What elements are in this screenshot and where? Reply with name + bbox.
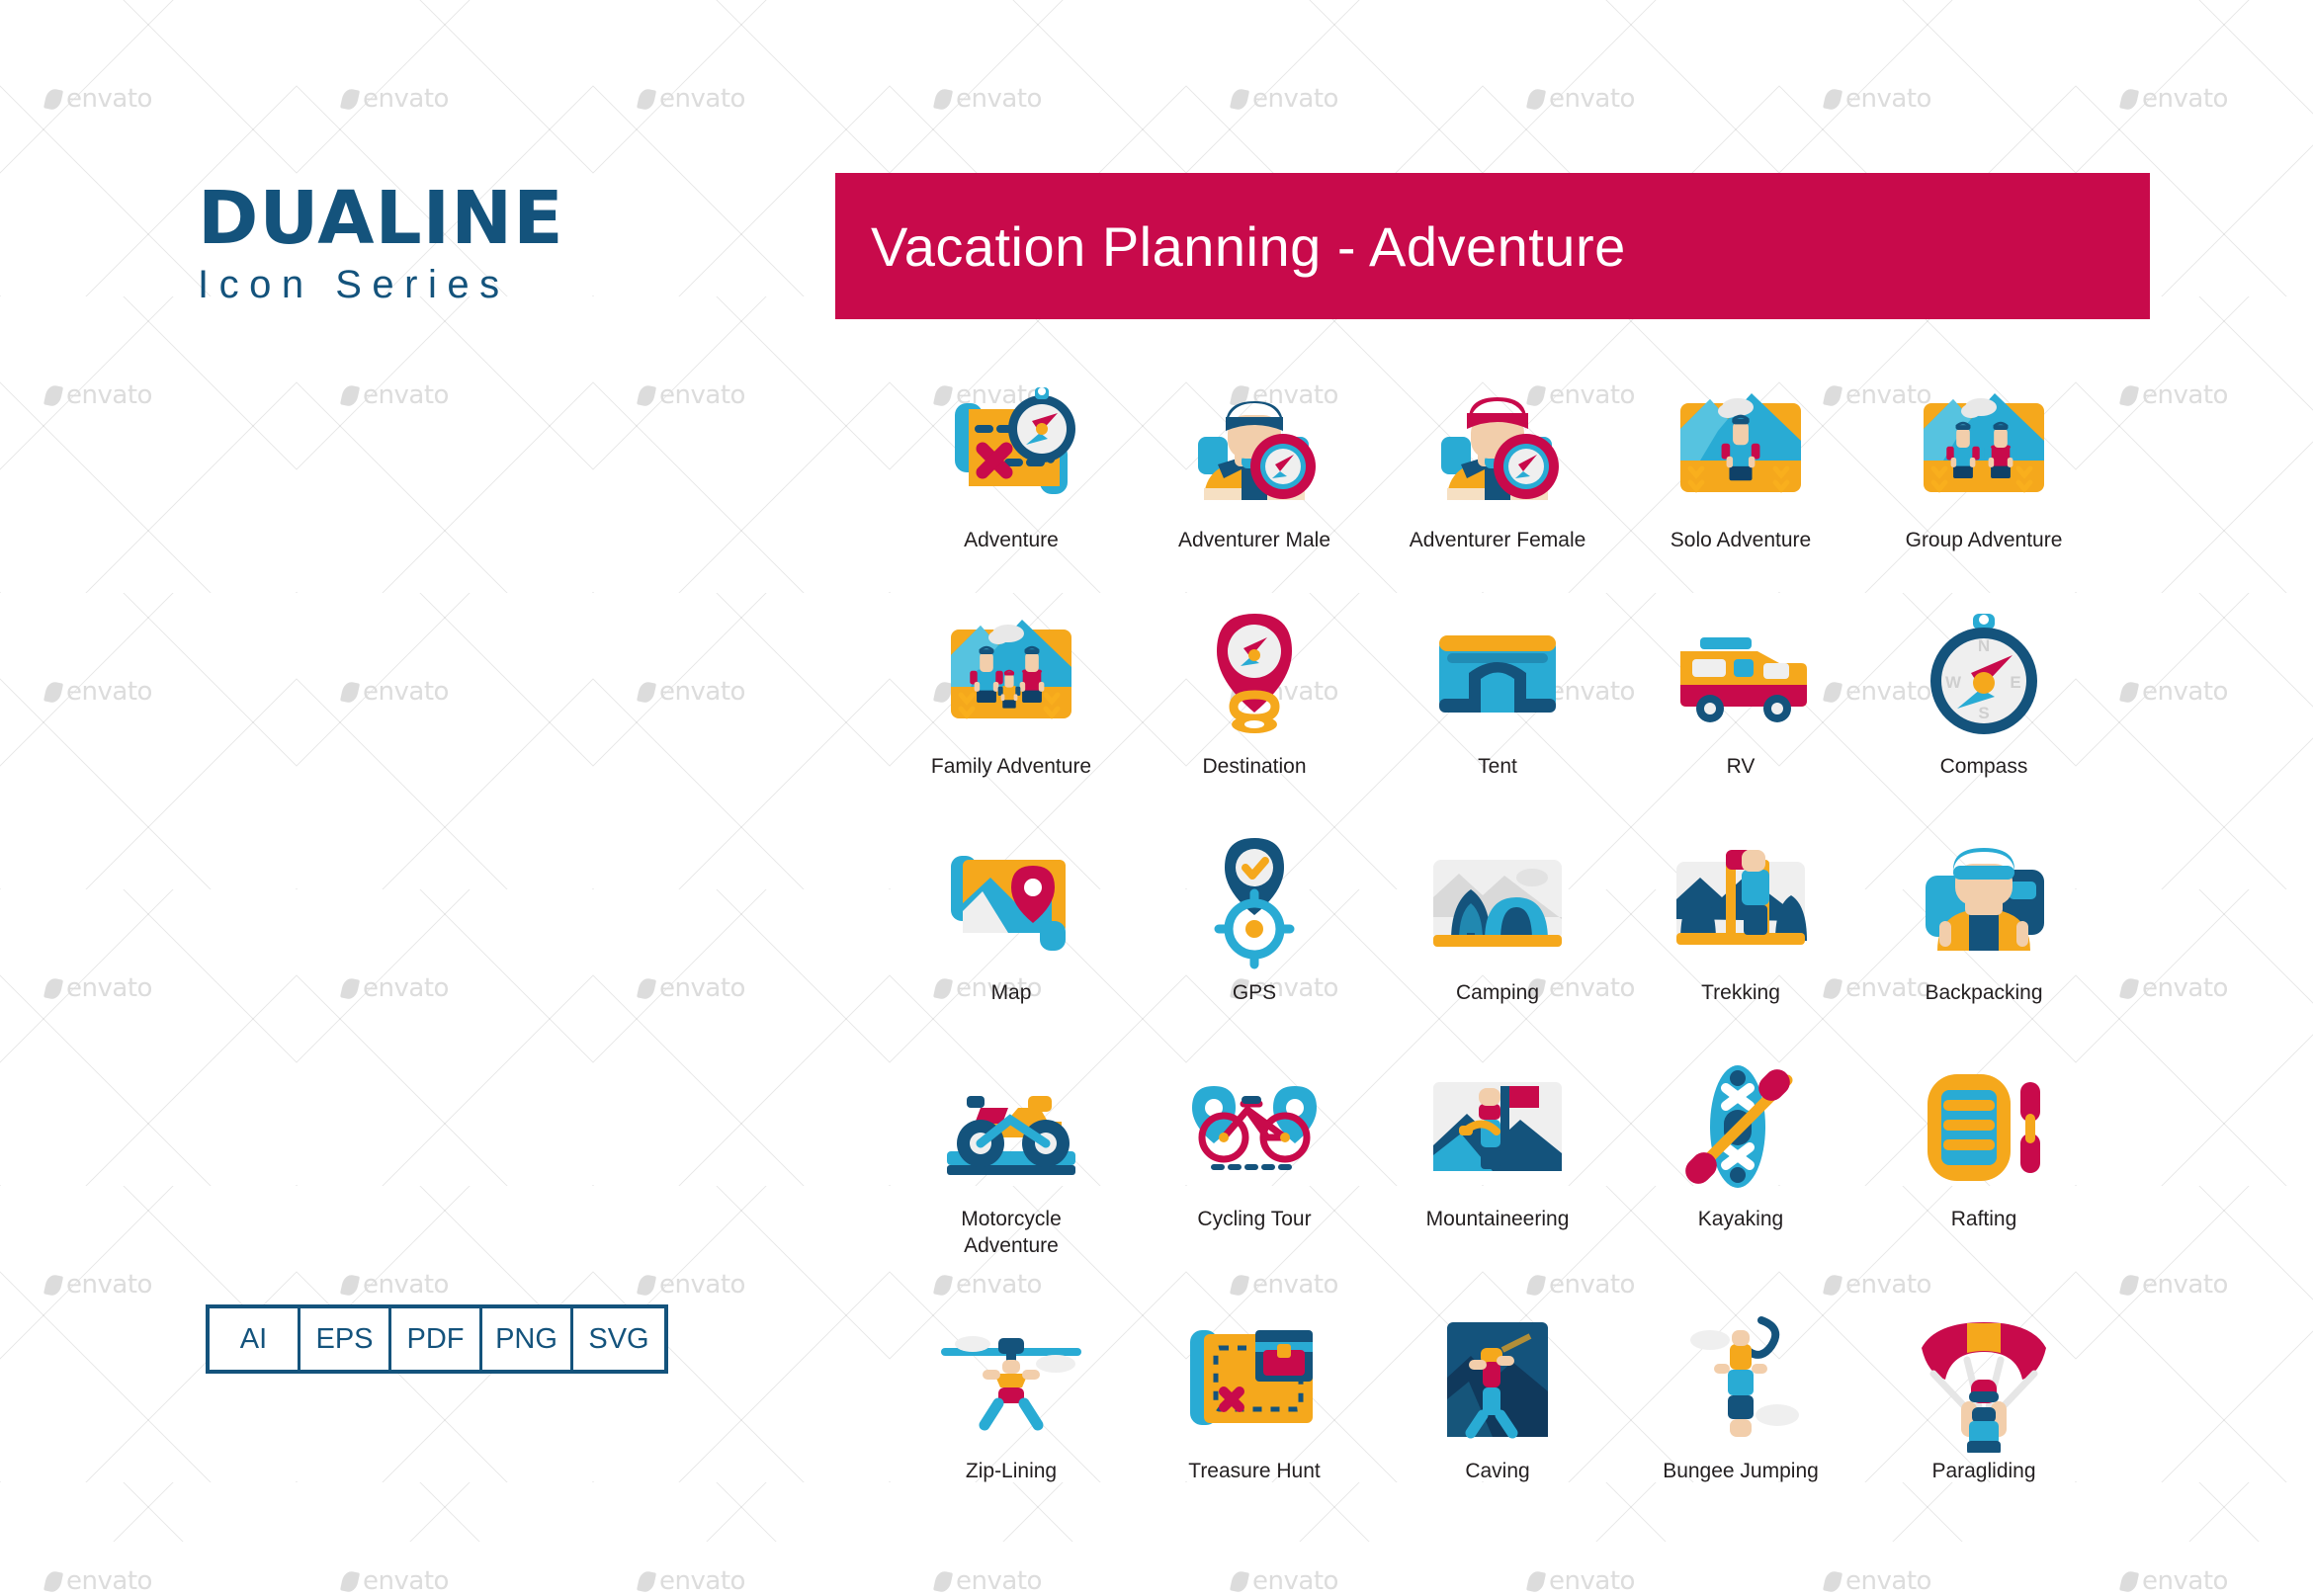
- category-banner: Vacation Planning - Adventure: [835, 173, 2150, 319]
- watermark-text: envato: [1252, 1566, 1338, 1596]
- envato-leaf-icon: [340, 1569, 360, 1593]
- group-adventure-icon: [1910, 374, 2058, 522]
- icon-label: Camping: [1456, 980, 1539, 1007]
- icon-label: Group Adventure: [1906, 528, 2063, 554]
- watermark-tag: envato: [1528, 1566, 1635, 1596]
- icon-label: Adventurer Female: [1410, 528, 1586, 554]
- icon-label: MotorcycleAdventure: [961, 1207, 1062, 1260]
- icon-label: Tent: [1478, 754, 1517, 781]
- watermark-tag: envato: [935, 1566, 1042, 1596]
- rafting-icon: [1910, 1052, 2058, 1201]
- watermark-text: envato: [1549, 1566, 1635, 1596]
- icon-cell[interactable]: Camping: [1376, 826, 1619, 1007]
- paragliding-icon: [1910, 1304, 2058, 1453]
- cycling-tour-icon: [1180, 1052, 1328, 1201]
- icon-cell[interactable]: Trekking: [1619, 826, 1862, 1007]
- icon-cell[interactable]: Mountaineering: [1376, 1052, 1619, 1260]
- icon-label: Adventurer Male: [1178, 528, 1330, 554]
- tent-icon: [1423, 600, 1572, 748]
- page-title: Vacation Planning - Adventure: [871, 214, 1626, 279]
- envato-leaf-icon: [933, 1569, 953, 1593]
- icon-cell[interactable]: Family Adventure: [890, 600, 1133, 781]
- watermark-text: envato: [363, 1566, 449, 1596]
- icon-cell[interactable]: Destination: [1133, 600, 1376, 781]
- format-badge-eps[interactable]: EPS: [300, 1308, 391, 1370]
- map-pin-icon: [937, 826, 1085, 974]
- logo-title: DUALINE: [198, 184, 564, 253]
- family-adventure-icon: [937, 600, 1085, 748]
- envato-leaf-icon: [1823, 1569, 1842, 1593]
- adventurer-male-icon: [1180, 374, 1328, 522]
- icon-cell[interactable]: Map: [890, 826, 1133, 1007]
- icon-label: Trekking: [1701, 980, 1780, 1007]
- envato-leaf-icon: [43, 1569, 63, 1593]
- mountaineering-icon: [1423, 1052, 1572, 1201]
- kayaking-icon: [1667, 1052, 1815, 1201]
- format-badge-png[interactable]: PNG: [482, 1308, 573, 1370]
- watermark-text: envato: [2142, 1566, 2228, 1596]
- watermark-tag: envato: [1825, 1566, 1931, 1596]
- trekking-icon: [1667, 826, 1815, 974]
- icon-label: Map: [991, 980, 1032, 1007]
- icon-label: Paragliding: [1931, 1459, 2035, 1485]
- icon-label: GPS: [1233, 980, 1276, 1007]
- icon-cell[interactable]: N S E W Compass: [1862, 600, 2105, 781]
- caving-icon: [1423, 1304, 1572, 1453]
- icon-cell[interactable]: Solo Adventure: [1619, 374, 1862, 554]
- treasure-map-compass-icon: [937, 374, 1085, 522]
- svg-text:S: S: [1978, 704, 1989, 722]
- icon-cell[interactable]: Caving: [1376, 1304, 1619, 1485]
- destination-pin-compass-icon: [1180, 600, 1328, 748]
- watermark-tag: envato: [2121, 1566, 2228, 1596]
- icon-label: Family Adventure: [931, 754, 1091, 781]
- envato-leaf-icon: [2119, 1569, 2139, 1593]
- envato-leaf-icon: [1230, 1569, 1249, 1593]
- icon-label: Caving: [1465, 1459, 1529, 1485]
- logo-subtitle: Icon Series: [198, 263, 564, 307]
- icon-cell[interactable]: RV: [1619, 600, 1862, 781]
- format-badge-pdf[interactable]: PDF: [391, 1308, 482, 1370]
- icon-label: Mountaineering: [1426, 1207, 1570, 1233]
- rv-camper-van-icon: [1667, 600, 1815, 748]
- icon-label: Rafting: [1951, 1207, 2017, 1233]
- watermark-tag: envato: [45, 1566, 152, 1596]
- icon-label: Backpacking: [1925, 980, 2042, 1007]
- camping-icon: [1423, 826, 1572, 974]
- icon-cell[interactable]: Adventure: [890, 374, 1133, 554]
- solo-adventure-icon: [1667, 374, 1815, 522]
- icon-cell[interactable]: GPS: [1133, 826, 1376, 1007]
- icon-cell[interactable]: MotorcycleAdventure: [890, 1052, 1133, 1260]
- format-badge-ai[interactable]: AI: [210, 1308, 300, 1370]
- motorcycle-adventure-icon: [937, 1052, 1085, 1201]
- watermark-tag: envato: [342, 1566, 449, 1596]
- svg-text:N: N: [1978, 636, 1990, 655]
- icon-cell[interactable]: Bungee Jumping: [1619, 1304, 1862, 1485]
- icon-grid: Adventure Adventurer Male Adventurer Fem…: [890, 374, 2105, 1485]
- bungee-jumping-icon: [1667, 1304, 1815, 1453]
- icon-label: Solo Adventure: [1670, 528, 1811, 554]
- icon-cell[interactable]: Zip-Lining: [890, 1304, 1133, 1485]
- treasure-hunt-icon: [1180, 1304, 1328, 1453]
- brand-panel: DUALINE Icon Series AIEPSPDFPNGSVG: [0, 0, 830, 1542]
- icon-label: Bungee Jumping: [1663, 1459, 1819, 1485]
- icon-label: Kayaking: [1698, 1207, 1783, 1233]
- icon-label: Treasure Hunt: [1188, 1459, 1320, 1485]
- icon-label: RV: [1727, 754, 1756, 781]
- icon-cell[interactable]: Cycling Tour: [1133, 1052, 1376, 1260]
- icon-cell[interactable]: Paragliding: [1862, 1304, 2105, 1485]
- gps-target-icon: [1180, 826, 1328, 974]
- compass-icon: N S E W: [1910, 600, 2058, 748]
- file-format-badges: AIEPSPDFPNGSVG: [206, 1304, 668, 1374]
- icon-cell[interactable]: Group Adventure: [1862, 374, 2105, 554]
- icon-label: Zip-Lining: [966, 1459, 1057, 1485]
- zip-lining-icon: [937, 1304, 1085, 1453]
- icon-label: Compass: [1940, 754, 2028, 781]
- envato-leaf-icon: [1526, 1569, 1546, 1593]
- adventurer-female-icon: [1423, 374, 1572, 522]
- icon-cell[interactable]: Backpacking: [1862, 826, 2105, 1007]
- icon-cell[interactable]: Kayaking: [1619, 1052, 1862, 1260]
- icon-label: Adventure: [964, 528, 1059, 554]
- backpacking-icon: [1910, 826, 2058, 974]
- icon-label: Cycling Tour: [1197, 1207, 1311, 1233]
- envato-leaf-icon: [637, 1569, 656, 1593]
- svg-text:E: E: [2010, 673, 2020, 692]
- format-badge-svg[interactable]: SVG: [573, 1308, 664, 1370]
- watermark-tag: envato: [1232, 1566, 1338, 1596]
- watermark-text: envato: [956, 1566, 1042, 1596]
- watermark-tag: envato: [639, 1566, 745, 1596]
- watermark-text: envato: [66, 1566, 152, 1596]
- svg-text:W: W: [1945, 673, 1962, 692]
- poster-page: DUALINE Icon Series AIEPSPDFPNGSVG Vacat…: [0, 0, 2313, 1542]
- watermark-text: envato: [1845, 1566, 1931, 1596]
- icon-cell[interactable]: Treasure Hunt: [1133, 1304, 1376, 1485]
- watermark-text: envato: [659, 1566, 745, 1596]
- icon-cell[interactable]: Rafting: [1862, 1052, 2105, 1260]
- icon-cell[interactable]: Adventurer Male: [1133, 374, 1376, 554]
- logo-block: DUALINE Icon Series: [198, 184, 564, 307]
- icon-cell[interactable]: Tent: [1376, 600, 1619, 781]
- icon-cell[interactable]: Adventurer Female: [1376, 374, 1619, 554]
- icon-label: Destination: [1202, 754, 1306, 781]
